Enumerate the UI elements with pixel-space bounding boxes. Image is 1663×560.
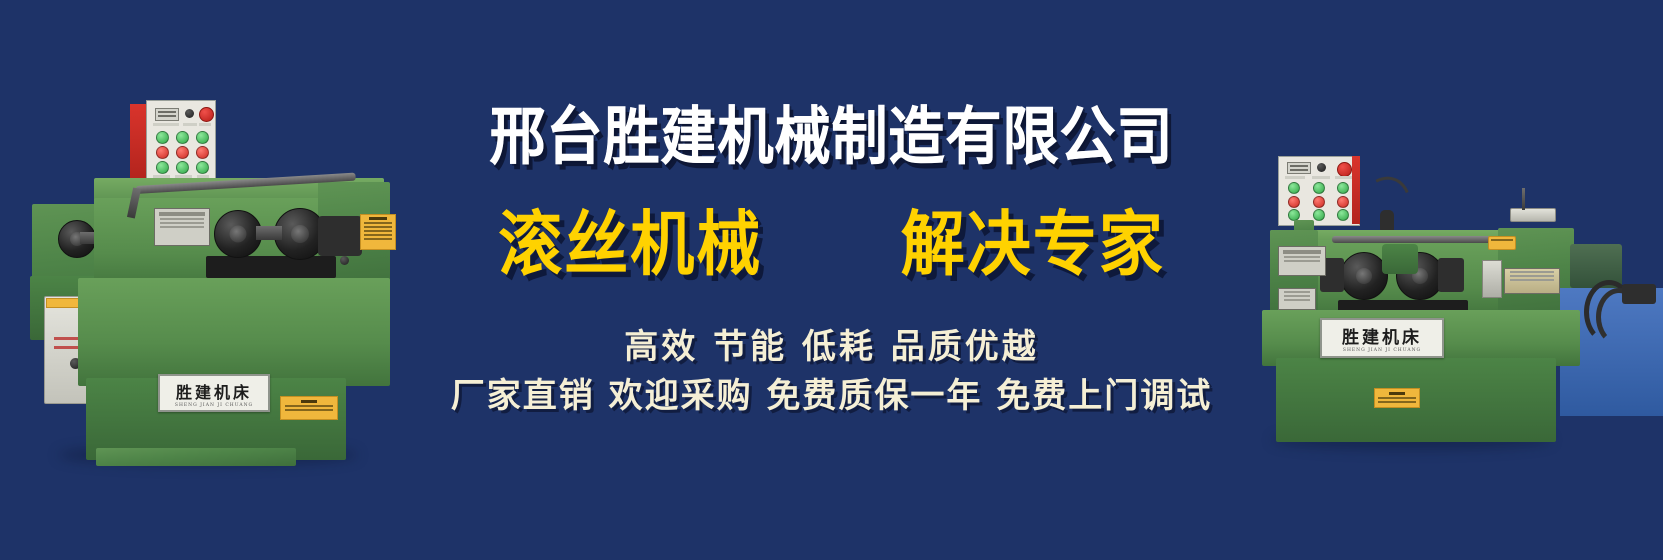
panel-lamp-2[interactable]	[176, 131, 189, 144]
right-panel-lamp-1[interactable]	[1288, 182, 1300, 194]
left-machine-foot	[96, 448, 296, 466]
control-panel-side	[130, 104, 146, 180]
panel-lamp-1[interactable]	[156, 131, 169, 144]
left-roller-bed	[206, 256, 336, 278]
right-emergency-stop-button[interactable]	[1337, 162, 1352, 177]
right-panel-lamp-4[interactable]	[1288, 196, 1300, 208]
panel-label-strip-3	[199, 123, 211, 126]
emergency-stop-button[interactable]	[199, 107, 214, 122]
panel-label-strip-2	[183, 123, 197, 126]
left-roller-die-1	[214, 210, 262, 258]
right-panel-lamp-5[interactable]	[1313, 196, 1325, 208]
left-spec-plate	[154, 208, 210, 246]
right-panel-lamp-2[interactable]	[1313, 182, 1325, 194]
right-center-gearbox	[1382, 244, 1418, 274]
left-brand-plate: 胜建机床 SHENG JIAN JI CHUANG	[158, 374, 270, 412]
right-panel-knob[interactable]	[1317, 163, 1326, 172]
left-brand-plate-en: SHENG JIAN JI CHUANG	[175, 403, 253, 408]
right-panel-lamp-8[interactable]	[1313, 209, 1325, 221]
right-panel-lamp-6[interactable]	[1337, 196, 1349, 208]
right-valve-block	[1622, 284, 1656, 304]
headline-right: 解决专家	[901, 205, 1165, 286]
promotional-banner: 胜建机床 SHENG JIAN JI CHUANG	[0, 0, 1663, 560]
right-panel-strip-2	[1312, 176, 1330, 179]
right-brand-plate-cn: 胜建机床	[1342, 323, 1422, 348]
right-panel-strip-1	[1285, 176, 1305, 179]
right-die-holder-right	[1438, 258, 1464, 292]
left-control-panel	[146, 100, 216, 182]
right-panel-strip-3	[1335, 176, 1353, 179]
right-linear-scale	[1482, 260, 1502, 298]
right-metal-nameplate	[1504, 268, 1560, 294]
right-control-panel	[1278, 156, 1360, 226]
right-thread-rolling-machine: 胜建机床 SHENG JIAN JI CHUANG	[1152, 112, 1663, 460]
right-spec-plate-secondary	[1278, 288, 1316, 310]
right-panel-lamp-9[interactable]	[1337, 209, 1349, 221]
panel-lamp-9[interactable]	[196, 161, 209, 174]
panel-lamp-3[interactable]	[196, 131, 209, 144]
right-panel-meter	[1287, 162, 1311, 174]
panel-selector-knob[interactable]	[185, 109, 194, 118]
right-brand-plate: 胜建机床 SHENG JIAN JI CHUANG	[1320, 318, 1444, 358]
right-spec-plate	[1278, 246, 1326, 276]
right-roller-die-1	[1340, 252, 1388, 300]
right-terminal-block	[1488, 236, 1516, 250]
right-sensor-bracket	[1510, 208, 1556, 222]
panel-lamp-8[interactable]	[176, 161, 189, 174]
panel-meter	[155, 108, 179, 121]
right-sensor-post	[1522, 188, 1525, 210]
panel-lamp-4[interactable]	[156, 146, 169, 159]
right-guard-bar	[1332, 236, 1512, 243]
right-base-warning-label	[1374, 388, 1420, 408]
headline-left: 滚丝机械	[498, 205, 762, 286]
panel-lamp-7[interactable]	[156, 161, 169, 174]
left-right-yellow-label	[360, 214, 396, 250]
panel-lamp-6[interactable]	[196, 146, 209, 159]
left-thread-rolling-machine: 胜建机床 SHENG JIAN JI CHUANG	[18, 86, 410, 478]
left-roller-shaft	[256, 226, 282, 240]
left-warning-label	[280, 396, 338, 420]
left-lube-fitting[interactable]	[340, 256, 349, 265]
left-machine-base	[78, 278, 390, 386]
right-panel-lamp-3[interactable]	[1337, 182, 1349, 194]
left-spindle-block	[318, 216, 362, 256]
panel-lamp-5[interactable]	[176, 146, 189, 159]
right-brand-plate-en: SHENG JIAN JI CHUANG	[1343, 348, 1421, 353]
left-brand-plate-cn: 胜建机床	[176, 379, 252, 403]
panel-label-strip-1	[153, 123, 179, 126]
